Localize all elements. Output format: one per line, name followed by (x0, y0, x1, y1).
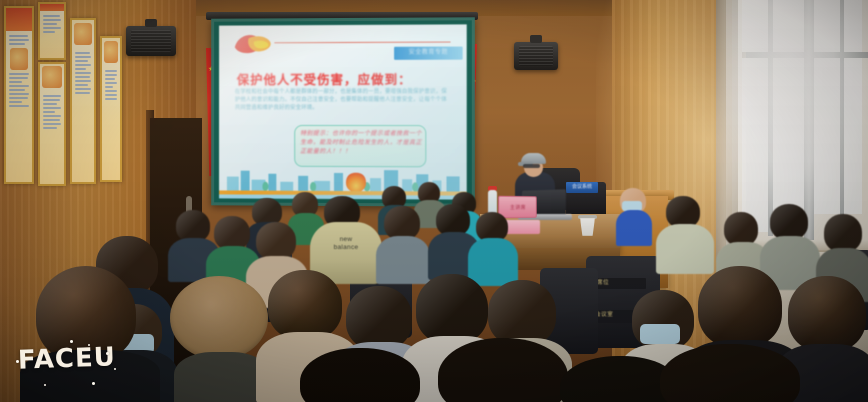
garment-text-line-2: balance (310, 244, 382, 251)
wall-poster (38, 62, 66, 186)
wall-poster (4, 6, 34, 184)
desk-monitor-rear: 会议系统 (566, 182, 606, 218)
fire-flame-icon (346, 172, 366, 192)
projection-screen-surface: 安全教育专题 保护他人不受伤害，应做到： 在学校和社会中每个人都是群体的一部分，… (219, 24, 467, 199)
speaker-grille (131, 30, 171, 52)
monitor-badge: 会议系统 (566, 182, 598, 193)
wall-poster (70, 18, 96, 184)
slide-callout-text: 特别提示：也许你的一个提示或者挽救一个生命，能及时制止危险发生的人，才是真正正能… (300, 130, 422, 157)
slide-chip-label: 安全教育专题 (394, 47, 463, 60)
desk-sign-label: 主讲席 (499, 197, 536, 220)
projection-screen-frame: 安全教育专题 保护他人不受伤害，应做到： 在学校和社会中每个人都是群体的一部分，… (211, 17, 475, 206)
slide-divider (274, 42, 450, 44)
right-wall-speaker (514, 42, 558, 70)
wall-poster (100, 36, 122, 182)
monitor-badge-label: 会议系统 (566, 182, 598, 193)
ribbon-swoosh-logo (231, 31, 273, 57)
slide-body-text: 在学校和社会中每个人都是群体的一部分，也是集体的一员，要增强自我保护意识，保护他… (235, 88, 449, 112)
left-wall-speaker (126, 26, 176, 56)
photo-scene: ★ ★ ★ ★ ★ ★ ★ ★ ★ ★ (0, 0, 868, 402)
desk-name-sign: 主讲席 (498, 196, 536, 219)
chair-sign-text: 席位 (597, 278, 609, 286)
speaker-grille (519, 46, 553, 66)
speaker-bracket (145, 19, 157, 27)
slide-section-chip: 安全教育专题 (394, 47, 463, 60)
presenter-glasses (523, 164, 540, 168)
watermark-sparkles (14, 338, 124, 390)
beret-hat (170, 276, 268, 360)
garment-text-line-1: new (310, 236, 382, 243)
speaker-bracket (530, 35, 542, 43)
chair-sign: 席位 (594, 278, 646, 289)
slide-callout-box: 特别提示：也许你的一个提示或者挽救一个生命，能及时制止危险发生的人，才是真正正能… (294, 125, 426, 167)
paper-cup (580, 218, 595, 236)
wall-poster (38, 2, 66, 60)
slide-title: 保护他人不受伤害，应做到： (237, 69, 412, 88)
